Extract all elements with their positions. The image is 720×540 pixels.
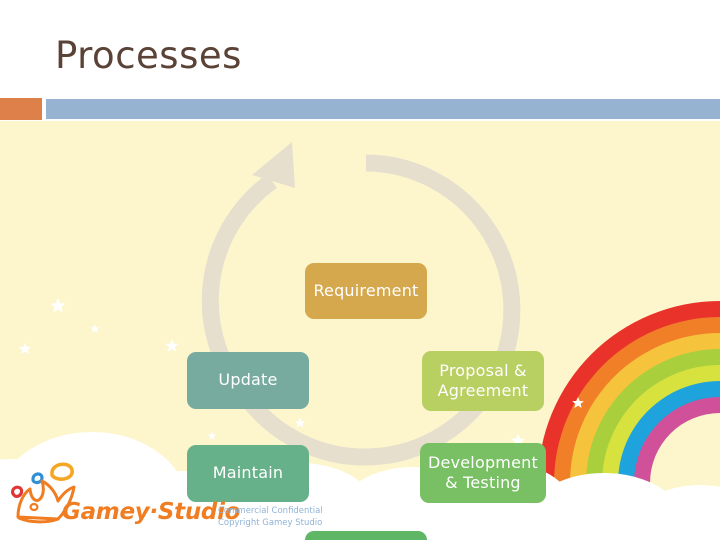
process-step-label-line1: Development [428,453,538,473]
process-step-development-testing[interactable]: Development & Testing [420,443,546,503]
logo-tagline-line2: Copyright Gamey Studio [218,517,323,529]
process-step-proposal-agreement[interactable]: Proposal & Agreement [422,351,544,411]
logo-wordmark: Gamey·Studio [62,499,240,525]
process-step-label-group: Proposal & Agreement [438,361,529,402]
page-title: Processes [55,34,242,77]
process-step-label-line1: Proposal & [438,361,529,381]
process-step-label: Requirement [313,281,418,301]
process-step-label: Update [218,370,277,390]
divider-accent-block [0,98,42,120]
logo-tagline-line1: Commercial Confidential [218,505,323,517]
process-step-requirement[interactable]: Requirement [305,263,427,319]
slide: Processes [0,0,720,540]
process-step-update[interactable]: Update [187,352,309,409]
process-step-label-line2: & Testing [428,473,538,493]
process-step-label-group: Development & Testing [428,453,538,494]
process-step-label-line2: Agreement [438,381,529,401]
logo-tagline: Commercial Confidential Copyright Gamey … [218,505,323,530]
slide-title-area: Processes [0,0,720,96]
divider-bar [46,99,720,119]
